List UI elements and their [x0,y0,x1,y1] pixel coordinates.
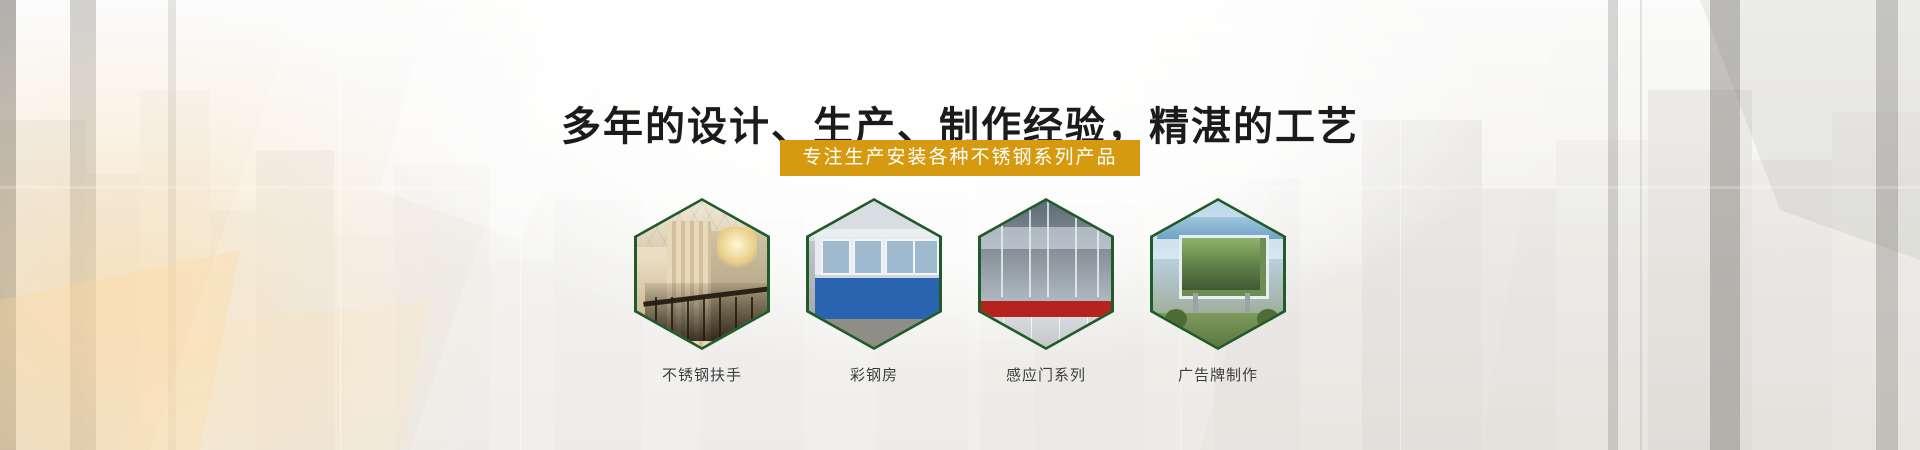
product-label: 不锈钢扶手 [662,364,742,385]
hexagon-frame-sensor-door[interactable] [978,198,1114,350]
product-label: 彩钢房 [850,364,898,385]
product-hexagon-row: 不锈钢扶手 [0,198,1920,385]
subtitle-row: 专注生产安装各种不锈钢系列产品 [0,140,1920,176]
sensor-door-series-photo [981,201,1111,347]
product-item-sensor-door[interactable]: 感应门系列 [978,198,1114,385]
color-steel-house-photo [809,201,939,347]
product-label: 感应门系列 [1006,364,1086,385]
product-item-billboard[interactable]: 广告牌制作 [1150,198,1286,385]
product-item-color-steel-house[interactable]: 彩钢房 [806,198,942,385]
billboard-production-photo [1153,201,1283,347]
promo-banner: 多年的设计、生产、制作经验，精湛的工艺 专注生产安装各种不锈钢系列产品 [0,0,1920,450]
product-label: 广告牌制作 [1178,364,1258,385]
stainless-steel-handrail-photo [637,201,767,347]
hexagon-frame-billboard[interactable] [1150,198,1286,350]
product-item-handrail[interactable]: 不锈钢扶手 [634,198,770,385]
hexagon-frame-handrail[interactable] [634,198,770,350]
status-badge: 专注生产安装各种不锈钢系列产品 [780,140,1139,176]
hexagon-frame-color-steel-house[interactable] [806,198,942,350]
